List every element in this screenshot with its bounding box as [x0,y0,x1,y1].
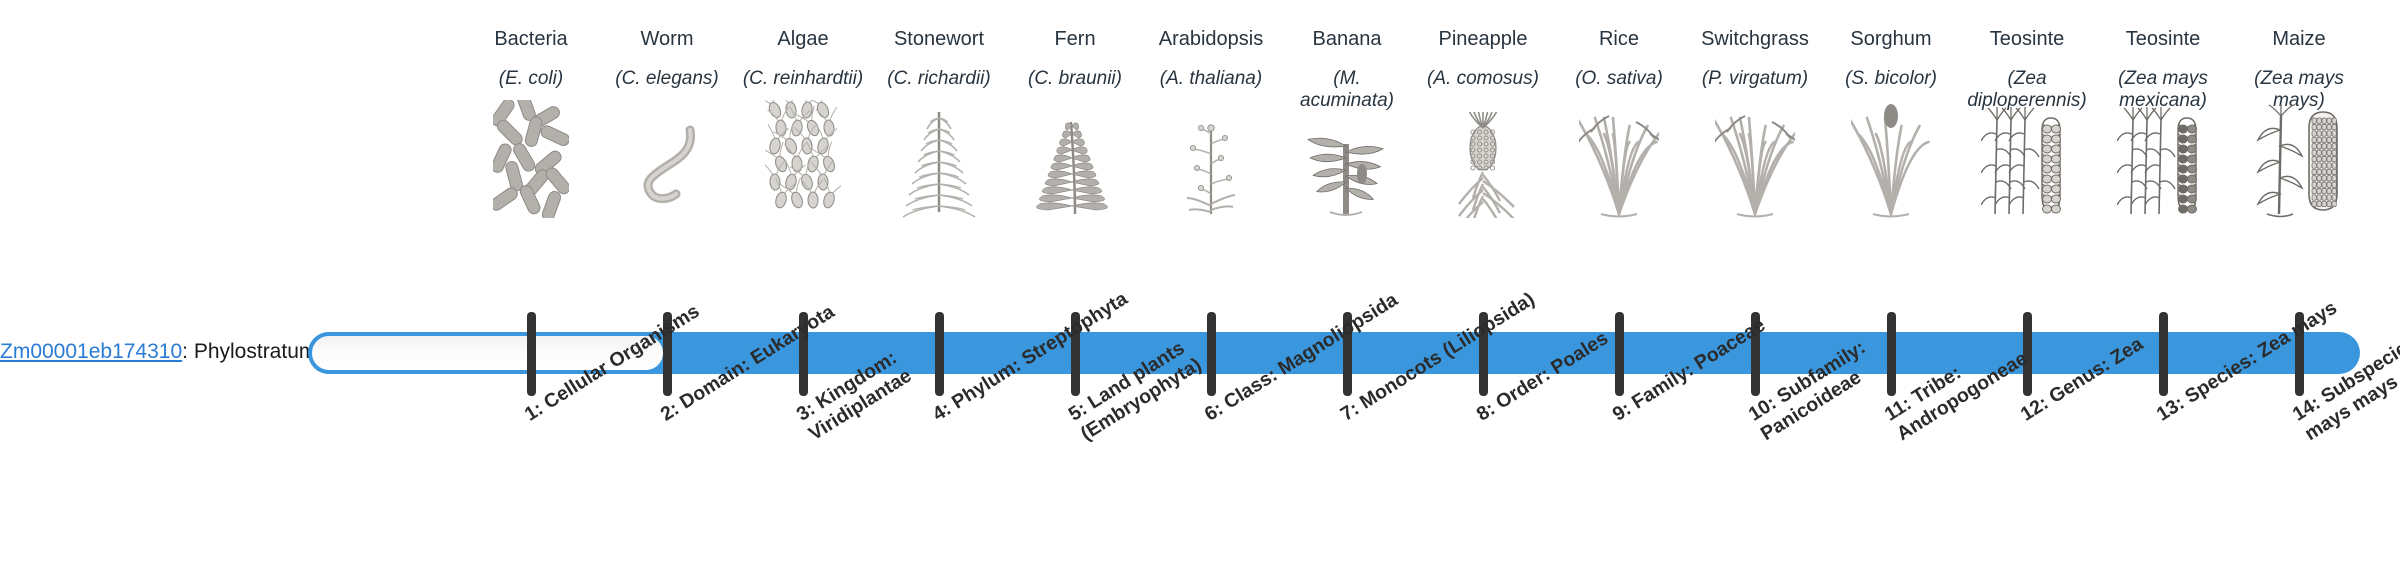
rice-icon [1556,122,1682,218]
gene-label-separator: : [182,340,194,363]
species-column: Algae(C. reinhardtii) [740,28,866,218]
switchgrass-icon [1692,122,1818,218]
species-common-name: Teosinte [1964,28,2090,54]
species-column: Sorghum(S. bicolor) [1828,28,1954,218]
species-column: Rice(O. sativa) [1556,28,1682,218]
algae-icon [740,122,866,218]
phylostratum-rank-labels: 1: Cellular Organisms2: Domain: Eukaryot… [460,400,2360,580]
rank-number: 7: [1337,398,1363,426]
species-column: Worm(C. elegans) [604,28,730,218]
species-column: Banana(M. acuminata) [1284,28,1410,218]
arabidopsis-icon [1148,122,1274,218]
rank-number: 6: [1201,398,1227,426]
species-column: Switchgrass(P. virgatum) [1692,28,1818,218]
species-common-name: Rice [1556,28,1682,54]
rank-number: 9: [1609,398,1635,426]
gene-phylostratum-label: Zm00001eb174310: Phylostratum 2 [0,340,290,363]
phylostratigraphy-figure: Zm00001eb174310: Phylostratum 2 Bacteria… [0,0,2400,580]
pineapple-icon [1420,122,1546,218]
species-column: Teosinte(Zea diploperennis) [1964,28,2090,218]
phylostratum-tick [527,312,536,396]
species-column: Arabidopsis(A. thaliana) [1148,28,1274,218]
rank-number: 1: [521,398,547,426]
species-common-name: Fern [1012,28,1138,54]
rank-number: 2: [657,398,683,426]
species-common-name: Teosinte [2100,28,2226,54]
rank-number: 13: [2153,392,2189,426]
species-scientific-name: (C. elegans) [604,68,730,116]
species-common-name: Banana [1284,28,1410,54]
species-common-name: Bacteria [468,28,594,54]
species-column: Stonewort(C. richardii) [876,28,1002,218]
rank-number: 12: [2017,392,2053,426]
species-column: Pineapple(A. comosus) [1420,28,1546,218]
banana-icon [1284,122,1410,218]
species-common-name: Arabidopsis [1148,28,1274,54]
species-common-name: Sorghum [1828,28,1954,54]
maize-icon [2236,122,2362,218]
species-track: Bacteria(E. coli)Worm(C. elegans) Algae(… [460,28,2360,303]
species-common-name: Algae [740,28,866,54]
bacteria-icon [468,122,594,218]
species-column: Maize(Zea mays mays) [2236,28,2362,218]
rank-number: 8: [1473,398,1499,426]
gene-id-link[interactable]: Zm00001eb174310 [0,340,182,363]
species-common-name: Stonewort [876,28,1002,54]
species-column: Teosinte(Zea mays mexicana) [2100,28,2226,218]
species-common-name: Switchgrass [1692,28,1818,54]
species-common-name: Worm [604,28,730,54]
teosinte-diploperennis-icon [1964,122,2090,218]
fern-icon [1012,122,1138,218]
species-column: Bacteria(E. coli) [468,28,594,218]
worm-icon [604,122,730,218]
sorghum-icon [1828,122,1954,218]
species-common-name: Pineapple [1420,28,1546,54]
stonewort-icon [876,122,1002,218]
species-column: Fern(C. braunii) [1012,28,1138,218]
rank-number: 4: [929,398,955,426]
species-common-name: Maize [2236,28,2362,54]
teosinte-mexicana-icon [2100,122,2226,218]
